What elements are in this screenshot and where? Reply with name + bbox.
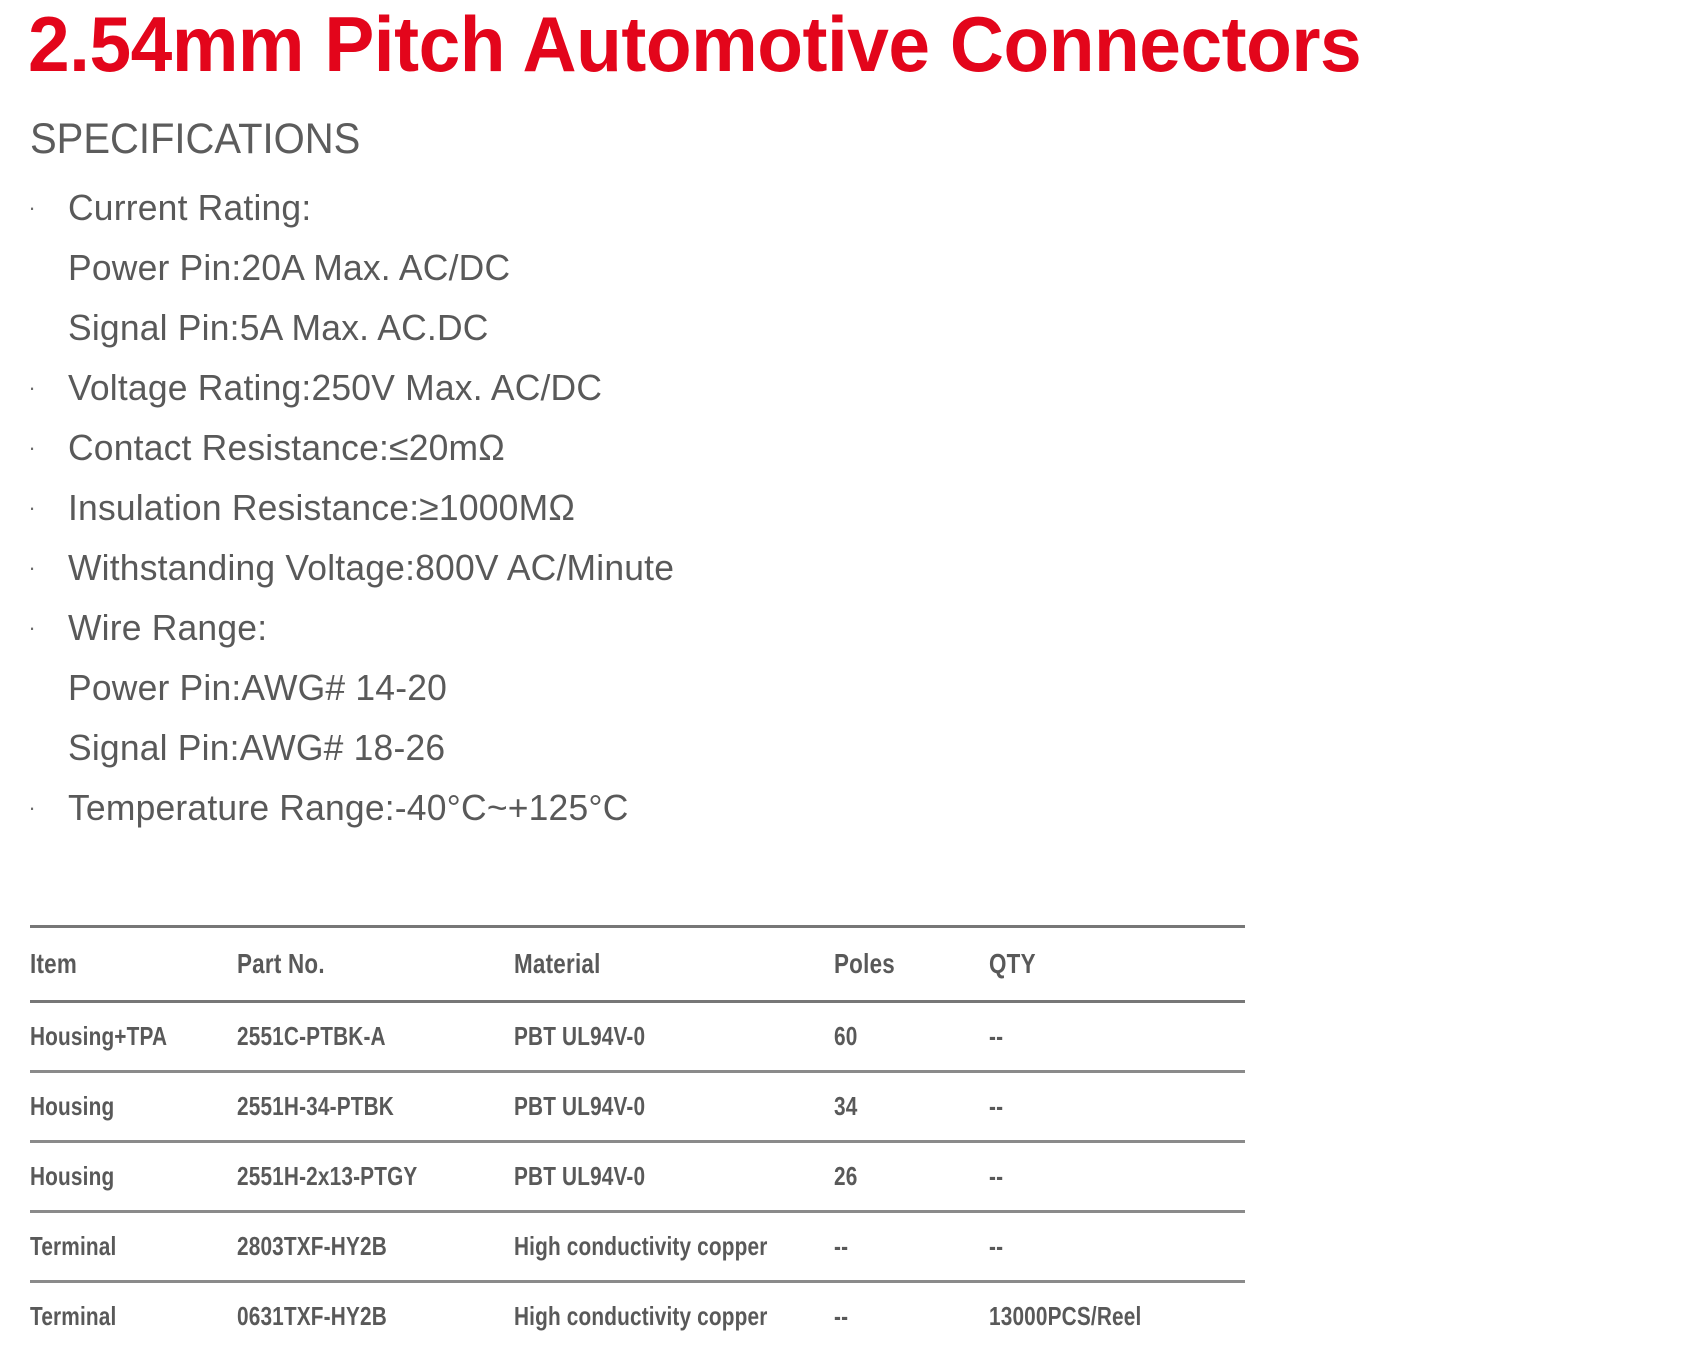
spec-item: Power Pin:20A Max. AC/DC [0, 238, 1200, 298]
table-cell: PBT UL94V-0 [514, 1072, 834, 1142]
spec-item-text: Power Pin:20A Max. AC/DC [68, 238, 510, 298]
table-column-header-label: QTY [989, 948, 1036, 980]
table-body: Housing+TPA2551C-PTBK-APBT UL94V-060--Ho… [30, 1002, 1245, 1351]
parts-table: ItemPart No.MaterialPolesQTY Housing+TPA… [30, 925, 1245, 1350]
table-cell-text: PBT UL94V-0 [514, 1161, 645, 1192]
table-cell-text: 34 [834, 1091, 857, 1122]
table-cell-text: PBT UL94V-0 [514, 1021, 645, 1052]
table-cell-text: -- [989, 1091, 1003, 1122]
table-cell-text: -- [834, 1301, 848, 1332]
spec-item: Power Pin:AWG# 14-20 [0, 658, 1200, 718]
table-cell-text: Housing [30, 1161, 114, 1192]
table-row: Housing2551H-2x13-PTGYPBT UL94V-026-- [30, 1142, 1245, 1212]
table-cell-text: PBT UL94V-0 [514, 1091, 645, 1122]
page-title: 2.54mm Pitch Automotive Connectors [28, 0, 1602, 92]
spec-item-text: Voltage Rating:250V Max. AC/DC [68, 358, 602, 418]
table-cell: Housing+TPA [30, 1002, 237, 1072]
table-column-header: Item [30, 927, 237, 1002]
table-cell-text: 26 [834, 1161, 857, 1192]
spec-item: Signal Pin:5A Max. AC.DC [0, 298, 1200, 358]
table-cell-text: High conductivity copper [514, 1301, 767, 1332]
spec-item: ·Temperature Range:-40°C~+125°C [0, 778, 1200, 838]
table-cell-text: Terminal [30, 1231, 116, 1262]
table-cell: -- [989, 1212, 1245, 1282]
table-cell-text: 2551H-2x13-PTGY [237, 1161, 417, 1192]
table-cell: -- [834, 1282, 989, 1351]
spec-item-text: Insulation Resistance:≥1000MΩ [68, 478, 575, 538]
table-cell: Housing [30, 1072, 237, 1142]
table-header: ItemPart No.MaterialPolesQTY [30, 927, 1245, 1002]
table-cell: 0631TXF-HY2B [237, 1282, 514, 1351]
table-cell-text: 2551H-34-PTBK [237, 1091, 394, 1122]
table-cell: 2803TXF-HY2B [237, 1212, 514, 1282]
table-cell-text: Housing [30, 1091, 114, 1122]
spec-item: Signal Pin:AWG# 18-26 [0, 718, 1200, 778]
bullet-icon: · [22, 178, 42, 238]
spec-item: ·Voltage Rating:250V Max. AC/DC [0, 358, 1200, 418]
table-cell-text: 13000PCS/Reel [989, 1301, 1141, 1332]
spec-item-text: Power Pin:AWG# 14-20 [68, 658, 447, 718]
table-column-header: Part No. [237, 927, 514, 1002]
specifications-list: ·Current Rating:Power Pin:20A Max. AC/DC… [0, 178, 1200, 838]
bullet-icon: · [22, 418, 42, 478]
specifications-heading: SPECIFICATIONS [30, 112, 360, 166]
spec-item-text: Signal Pin:5A Max. AC.DC [68, 298, 489, 358]
table-cell: 60 [834, 1002, 989, 1072]
table-cell-text: 0631TXF-HY2B [237, 1301, 387, 1332]
table-cell: PBT UL94V-0 [514, 1002, 834, 1072]
table-cell-text: -- [989, 1161, 1003, 1192]
table-cell: 2551H-34-PTBK [237, 1072, 514, 1142]
spec-item-text: Wire Range: [68, 598, 267, 658]
bullet-icon: · [22, 538, 42, 598]
table-cell-text: -- [989, 1231, 1003, 1262]
table-cell: 2551H-2x13-PTGY [237, 1142, 514, 1212]
table-cell: -- [989, 1002, 1245, 1072]
spec-item-text: Temperature Range:-40°C~+125°C [68, 778, 629, 838]
table-column-header-label: Item [30, 948, 77, 980]
bullet-icon: · [22, 598, 42, 658]
table-column-header: Poles [834, 927, 989, 1002]
table-cell-text: High conductivity copper [514, 1231, 767, 1262]
table-cell: High conductivity copper [514, 1282, 834, 1351]
table-cell-text: -- [989, 1021, 1003, 1052]
table-header-row: ItemPart No.MaterialPolesQTY [30, 927, 1245, 1002]
table-cell: 13000PCS/Reel [989, 1282, 1245, 1351]
spec-item: ·Current Rating: [0, 178, 1200, 238]
spec-item-text: Contact Resistance:≤20mΩ [68, 418, 505, 478]
table-cell: Terminal [30, 1282, 237, 1351]
table-cell: Housing [30, 1142, 237, 1212]
table-row: Terminal2803TXF-HY2BHigh conductivity co… [30, 1212, 1245, 1282]
table-cell: 26 [834, 1142, 989, 1212]
spec-item-text: Signal Pin:AWG# 18-26 [68, 718, 445, 778]
table-cell: PBT UL94V-0 [514, 1142, 834, 1212]
table-cell: High conductivity copper [514, 1212, 834, 1282]
table-cell: Terminal [30, 1212, 237, 1282]
table-column-header-label: Poles [834, 948, 895, 980]
spec-item-text: Withstanding Voltage:800V AC/Minute [68, 538, 674, 598]
table-cell-text: -- [834, 1231, 848, 1262]
table-cell-text: 2551C-PTBK-A [237, 1021, 386, 1052]
table-column-header: QTY [989, 927, 1245, 1002]
spec-item: ·Withstanding Voltage:800V AC/Minute [0, 538, 1200, 598]
bullet-icon: · [22, 358, 42, 418]
table-row: Housing+TPA2551C-PTBK-APBT UL94V-060-- [30, 1002, 1245, 1072]
table-cell: 2551C-PTBK-A [237, 1002, 514, 1072]
table-cell-text: 2803TXF-HY2B [237, 1231, 387, 1262]
table-cell: -- [989, 1142, 1245, 1212]
spec-item: ·Insulation Resistance:≥1000MΩ [0, 478, 1200, 538]
table-cell-text: Housing+TPA [30, 1021, 167, 1052]
bullet-icon: · [22, 778, 42, 838]
spec-item: ·Contact Resistance:≤20mΩ [0, 418, 1200, 478]
spec-item-text: Current Rating: [68, 178, 311, 238]
table-cell-text: 60 [834, 1021, 857, 1052]
table-cell-text: Terminal [30, 1301, 116, 1332]
bullet-icon: · [22, 478, 42, 538]
table-column-header: Material [514, 927, 834, 1002]
table-column-header-label: Part No. [237, 948, 325, 980]
table-cell: 34 [834, 1072, 989, 1142]
table-cell: -- [989, 1072, 1245, 1142]
table-cell: -- [834, 1212, 989, 1282]
table-row: Terminal0631TXF-HY2BHigh conductivity co… [30, 1282, 1245, 1351]
table-row: Housing2551H-34-PTBKPBT UL94V-034-- [30, 1072, 1245, 1142]
spec-item: ·Wire Range: [0, 598, 1200, 658]
table-column-header-label: Material [514, 948, 601, 980]
